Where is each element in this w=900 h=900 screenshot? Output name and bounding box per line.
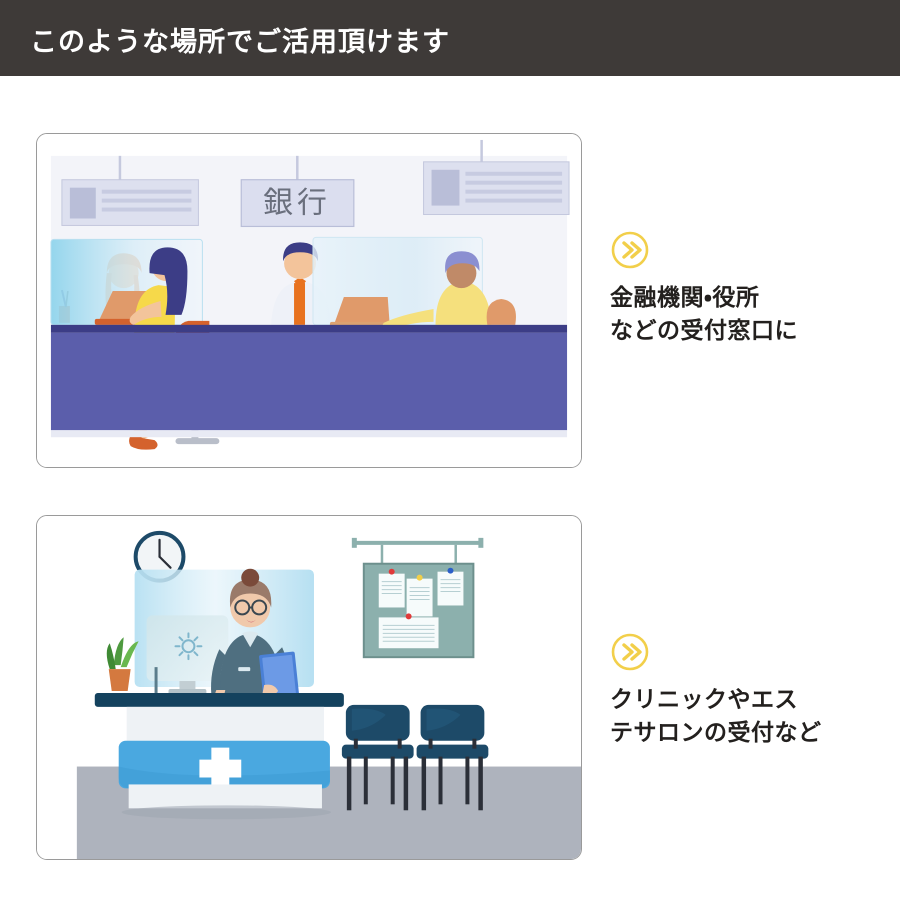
counter-body — [51, 333, 567, 430]
hanging-sign-right — [424, 162, 569, 215]
page-title: このような場所でご活用頂けます — [30, 20, 450, 59]
bank-sign-text: 銀行 — [263, 186, 331, 221]
double-chevron-right-icon — [610, 230, 650, 270]
caption-text-bank: 金融機関・役所 などの受付窓口に — [610, 282, 890, 347]
reception-desk-top — [95, 693, 344, 707]
caption-bank: 金融機関・役所 などの受付窓口に — [610, 230, 890, 347]
caption-text-clinic: クリニックやエス テサロンの受付など — [610, 684, 890, 749]
hanging-sign-bank: 銀行 — [241, 180, 354, 227]
counter-top-edge — [51, 325, 567, 333]
illustration-card-clinic — [36, 515, 582, 860]
double-chevron-right-icon — [610, 632, 650, 672]
header-bar: このような場所でご活用頂けます — [0, 0, 900, 76]
section-bank: 銀行 — [0, 133, 900, 468]
bank-counter-illustration: 銀行 — [37, 134, 581, 467]
illustration-card-bank: 銀行 — [36, 133, 582, 468]
clinic-reception-illustration — [37, 516, 581, 859]
caption-clinic: クリニックやエス テサロンの受付など — [610, 632, 890, 749]
hanging-sign-left — [62, 180, 198, 226]
section-clinic: クリニックやエス テサロンの受付など — [0, 515, 900, 860]
